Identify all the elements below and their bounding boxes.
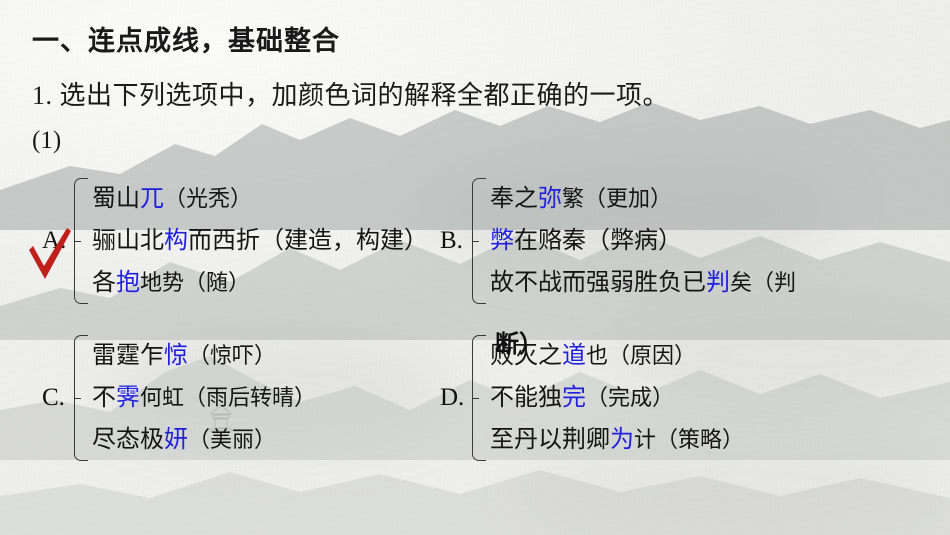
keyword-highlight: 兀 [140, 186, 164, 212]
option-b-line-1: 奉之弥繁（更加） [490, 187, 796, 211]
sub-question-number: (1) [32, 127, 61, 155]
line-gloss: （惊吓） [188, 343, 276, 368]
line-gloss: （完成） [586, 385, 674, 410]
option-a-line-1: 蜀山兀（光秃） [92, 187, 428, 211]
question-prompt: 1. 选出下列选项中，加颜色词的解释全都正确的一项。 [32, 75, 669, 112]
line-gloss: 繁（更加） [562, 186, 672, 211]
keyword-highlight: 抱 [116, 270, 140, 296]
option-c[interactable]: C. 雷霆乍惊（惊吓） 不霁何虹（雨后转晴） 尽态极妍（美丽） [42, 333, 316, 463]
line-pre: 各 [92, 270, 116, 296]
line-gloss: 计（策略） [634, 427, 744, 452]
keyword-highlight: 弥 [538, 186, 562, 212]
option-c-lines: 雷霆乍惊（惊吓） 不霁何虹（雨后转晴） 尽态极妍（美丽） [92, 335, 316, 461]
option-c-line-2: 不霁何虹（雨后转晴） [92, 386, 316, 410]
option-b-line-2: 弊在赂秦（弊病） [490, 229, 796, 253]
option-c-line-3: 尽态极妍（美丽） [92, 428, 316, 452]
option-a-label: A. [42, 227, 74, 255]
option-c-line-1: 雷霆乍惊（惊吓） [92, 344, 316, 368]
line-gloss: （光秃） [164, 186, 252, 211]
line-pre: 骊山北 [92, 228, 164, 254]
keyword-highlight: 为 [610, 427, 634, 453]
option-b-lines: 奉之弥繁（更加） 弊在赂秦（弊病） 故不战而强弱胜负已判矣（判 [490, 178, 796, 304]
keyword-highlight: 完 [562, 385, 586, 411]
option-a-line-2: 骊山北构而西折（建造，构建） [92, 229, 428, 253]
slide-canvas: 一、连点成线，基础整合 1. 选出下列选项中，加颜色词的解释全都正确的一项。 (… [0, 0, 950, 535]
keyword-highlight: 构 [164, 228, 188, 254]
line-gloss: 矣（判 [730, 270, 796, 295]
option-b[interactable]: B. 奉之弥繁（更加） 弊在赂秦（弊病） 故不战而强弱胜负已判矣（判 [440, 176, 796, 306]
option-c-label: C. [42, 384, 74, 412]
option-c-brace [74, 335, 88, 461]
line-pre: 蜀山 [92, 186, 140, 212]
line-gloss: 何虹（雨后转晴） [140, 385, 316, 410]
line-gloss: 也（原因） [586, 343, 696, 368]
option-b-line-3: 故不战而强弱胜负已判矣（判 [490, 271, 796, 295]
option-d-line-2: 不能独完（完成） [490, 386, 744, 410]
line-pre: 故不战而强弱胜负已 [490, 270, 706, 296]
option-d-label: D. [440, 384, 472, 412]
option-a-lines: 蜀山兀（光秃） 骊山北构而西折（建造，构建） 各抱地势（随） [92, 178, 428, 304]
option-d-line-3: 至丹以荆卿为计（策略） [490, 428, 744, 452]
option-b-brace [472, 178, 486, 304]
option-d-lines: 败灭之道也（原因） 不能独完（完成） 至丹以荆卿为计（策略） [490, 335, 744, 461]
option-a-brace [74, 178, 88, 304]
keyword-highlight: 判 [706, 270, 730, 296]
line-pre: 至丹以荆卿 [490, 427, 610, 453]
line-pre: 败灭之 [490, 343, 562, 369]
keyword-highlight: 道 [562, 343, 586, 369]
page-title: 一、连点成线，基础整合 [32, 19, 340, 58]
line-pre: 不能独 [490, 385, 562, 411]
line-gloss: 地势（随） [140, 270, 250, 295]
option-a-line-3: 各抱地势（随） [92, 271, 428, 295]
line-pre: 不 [92, 385, 116, 411]
option-d-line-1: 败灭之道也（原因） [490, 344, 744, 368]
option-d-brace [472, 335, 486, 461]
line-gloss: 而西折（建造，构建） [188, 228, 428, 254]
keyword-highlight: 妍 [164, 427, 188, 453]
keyword-highlight: 霁 [116, 385, 140, 411]
option-a[interactable]: A. 蜀山兀（光秃） 骊山北构而西折（建造，构建） 各抱地势（随） [42, 176, 428, 306]
keyword-highlight: 弊 [490, 228, 514, 254]
option-b-label: B. [440, 227, 472, 255]
line-pre: 雷霆乍 [92, 343, 164, 369]
line-pre: 尽态极 [92, 427, 164, 453]
line-gloss: 在赂秦（弊病） [514, 228, 682, 254]
line-gloss: （美丽） [188, 427, 276, 452]
line-pre: 奉之 [490, 186, 538, 212]
keyword-highlight: 惊 [164, 343, 188, 369]
option-d[interactable]: D. 败灭之道也（原因） 不能独完（完成） 至丹以荆卿为计（策略） [440, 333, 744, 463]
